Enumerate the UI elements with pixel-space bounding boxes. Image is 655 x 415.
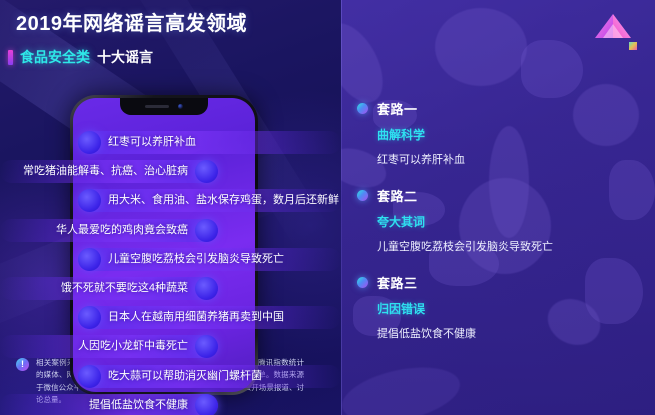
subtitle-row: 食品安全类 十大谣言 bbox=[16, 47, 247, 67]
routine-subtitle: 归因错误 bbox=[377, 300, 476, 317]
subtitle-rest: 十大谣言 bbox=[97, 47, 153, 67]
rumor-row[interactable]: 吃大蒜可以帮助消灭幽门螺杆菌 bbox=[78, 365, 341, 388]
info-badge-icon bbox=[16, 358, 29, 371]
routine-header: 套路一 bbox=[357, 99, 465, 118]
routine-section-1: 套路一曲解科学红枣可以养肝补血 bbox=[357, 99, 465, 167]
rumor-rank-dot bbox=[78, 248, 101, 271]
rumor-row[interactable]: 华人最爱吃的鸡肉竟会致癌 bbox=[0, 219, 218, 242]
rumor-row[interactable]: 红枣可以养肝补血 bbox=[78, 131, 341, 154]
panel-divider bbox=[341, 0, 342, 415]
rumor-row[interactable]: 日本人在越南用细菌养猪再卖到中国 bbox=[78, 306, 341, 329]
routine-title: 套路一 bbox=[377, 99, 418, 118]
routine-header: 套路二 bbox=[357, 186, 553, 205]
phone-notch bbox=[120, 98, 208, 115]
rumor-text: 人因吃小龙虾中毒死亡 bbox=[78, 335, 188, 358]
page-title: 2019年网络谣言高发领域 bbox=[16, 14, 247, 34]
decorative-texture bbox=[341, 14, 394, 112]
routine-title: 套路三 bbox=[377, 273, 418, 292]
speaker-grill-icon bbox=[145, 105, 169, 108]
rumor-text: 儿童空腹吃荔枝会引发脑炎导致死亡 bbox=[108, 248, 284, 271]
decorative-texture bbox=[521, 40, 583, 98]
routine-subtitle: 夸大其词 bbox=[377, 213, 553, 230]
routine-example: 红枣可以养肝补血 bbox=[377, 151, 465, 167]
rumor-text: 日本人在越南用细菌养猪再卖到中国 bbox=[108, 306, 284, 329]
rumor-row[interactable]: 人因吃小龙虾中毒死亡 bbox=[0, 335, 218, 358]
rumor-text: 常吃猪油能解毒、抗癌、治心脏病 bbox=[23, 160, 188, 183]
infographic-slide: 2019年网络谣言高发领域 食品安全类 十大谣言 红枣可以养肝补血常吃猪油能解毒… bbox=[0, 0, 655, 415]
decorative-texture bbox=[609, 160, 655, 220]
front-camera-icon bbox=[178, 104, 183, 109]
rumor-rank-dot bbox=[195, 277, 218, 300]
bullet-dot-icon bbox=[357, 277, 368, 288]
subtitle-category: 食品安全类 bbox=[20, 47, 90, 67]
triangle-prism-logo-icon bbox=[589, 8, 637, 50]
routine-title: 套路二 bbox=[377, 186, 418, 205]
rumor-rank-dot bbox=[195, 394, 218, 415]
routine-header: 套路三 bbox=[357, 273, 476, 292]
decorative-texture bbox=[435, 8, 527, 86]
rumor-rank-dot bbox=[78, 131, 101, 154]
rumor-row[interactable]: 饿不死就不要吃这4种蔬菜 bbox=[0, 277, 218, 300]
title-block: 2019年网络谣言高发领域 食品安全类 十大谣言 bbox=[16, 14, 247, 67]
routine-section-2: 套路二夸大其词儿童空腹吃荔枝会引发脑炎导致死亡 bbox=[357, 186, 553, 254]
decorative-texture bbox=[585, 258, 643, 324]
rumor-text: 提倡低盐饮食不健康 bbox=[89, 394, 188, 415]
rumor-row[interactable]: 常吃猪油能解毒、抗癌、治心脏病 bbox=[0, 160, 218, 183]
rumor-rank-dot bbox=[78, 365, 101, 388]
rumor-text: 华人最爱吃的鸡肉竟会致癌 bbox=[56, 219, 188, 242]
rumor-row[interactable]: 儿童空腹吃荔枝会引发脑炎导致死亡 bbox=[78, 248, 341, 271]
routine-example: 儿童空腹吃荔枝会引发脑炎导致死亡 bbox=[377, 238, 553, 254]
rumor-row[interactable]: 提倡低盐饮食不健康 bbox=[0, 394, 218, 415]
rumor-text: 饿不死就不要吃这4种蔬菜 bbox=[61, 277, 188, 300]
rumor-rank-dot bbox=[195, 219, 218, 242]
routine-section-3: 套路三归因错误提倡低盐饮食不健康 bbox=[357, 273, 476, 341]
decorative-texture bbox=[341, 358, 465, 415]
rumor-text: 吃大蒜可以帮助消灭幽门螺杆菌 bbox=[108, 365, 262, 388]
routine-example: 提倡低盐饮食不健康 bbox=[377, 325, 476, 341]
rumor-text: 用大米、食用油、盐水保存鸡蛋，数月后还新鲜 bbox=[108, 189, 339, 212]
bullet-dot-icon bbox=[357, 103, 368, 114]
bullet-dot-icon bbox=[357, 190, 368, 201]
subtitle-accent-bar bbox=[8, 50, 13, 65]
decorative-texture bbox=[540, 291, 607, 353]
decorative-texture bbox=[573, 84, 639, 146]
rumor-row[interactable]: 用大米、食用油、盐水保存鸡蛋，数月后还新鲜 bbox=[78, 189, 341, 212]
routine-subtitle: 曲解科学 bbox=[377, 126, 465, 143]
rumor-text: 红枣可以养肝补血 bbox=[108, 131, 196, 154]
